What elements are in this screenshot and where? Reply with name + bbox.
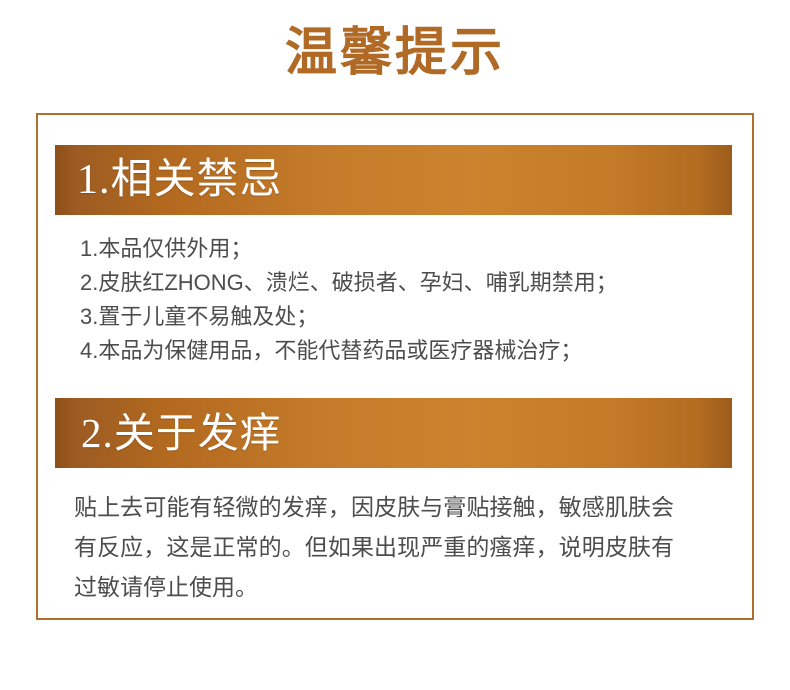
page-title: 温馨提示 [0,24,790,84]
contraindications-list: 1.本品仅供外用； 2.皮肤红ZHONG、溃烂、破损者、孕妇、哺乳期禁用； 3.… [80,232,740,368]
list-item: 2.皮肤红ZHONG、溃烂、破损者、孕妇、哺乳期禁用； [80,266,740,300]
list-item: 1.本品仅供外用； [80,232,740,266]
list-item: 4.本品为保健用品，不能代替药品或医疗器械治疗； [80,334,740,368]
section-header-bar-itching: 2.关于发痒 [55,398,732,468]
section-header-bar-contraindications: 1.相关禁忌 [55,145,732,215]
section-header-label-itching: 2.关于发痒 [81,410,282,456]
list-item: 3.置于儿童不易触及处； [80,300,740,334]
itching-description: 贴上去可能有轻微的发痒，因皮肤与膏贴接触，敏感肌肤会有反应，这是正常的。但如果出… [74,487,674,607]
tips-page: 温馨提示 1.相关禁忌 1.本品仅供外用； 2.皮肤红ZHONG、溃烂、破损者、… [0,0,790,690]
section-header-label-contraindications: 1.相关禁忌 [77,157,283,203]
paragraph-text: 贴上去可能有轻微的发痒，因皮肤与膏贴接触，敏感肌肤会有反应，这是正常的。但如果出… [74,487,674,607]
